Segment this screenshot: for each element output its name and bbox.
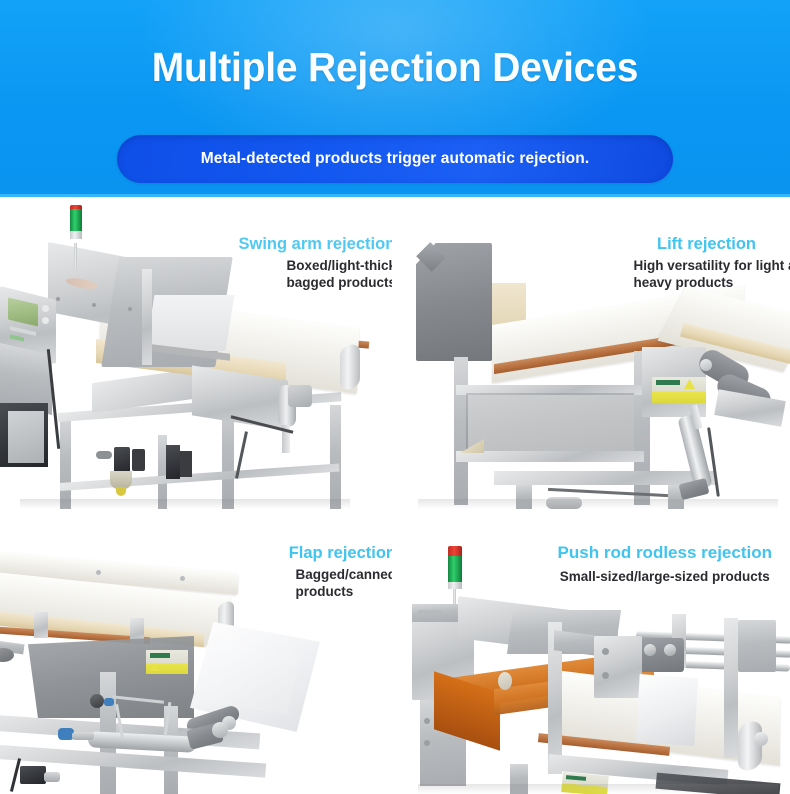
product-feature-poster: Multiple Rejection Devices Metal-detecte… xyxy=(0,0,790,794)
panel-subtitle: Boxed/light-thick bagged products xyxy=(286,258,392,291)
page-title: Multiple Rejection Devices xyxy=(20,44,771,91)
stack-light-red-green xyxy=(448,546,462,589)
label-push-rod: Push rod rodless rejection Small-sized/l… xyxy=(558,544,772,585)
panel-push-rod[interactable]: Push rod rodless rejection Small-sized/l… xyxy=(398,526,790,794)
panel-heading: Lift rejection xyxy=(633,235,756,253)
feature-grid: Swing arm rejection Boxed/light-thick ba… xyxy=(0,199,790,794)
panel-heading: Swing arm rejection xyxy=(238,235,392,253)
poster-header: Multiple Rejection Devices Metal-detecte… xyxy=(0,0,790,197)
label-flap: Flap rejection Bagged/canned products xyxy=(283,544,392,600)
panel-heading: Push rod rodless rejection xyxy=(558,544,772,563)
panel-subtitle: High versatility for light and heavy pro… xyxy=(633,258,790,291)
stack-light-green xyxy=(70,205,82,239)
panel-subtitle: Small-sized/large-sized products xyxy=(558,569,772,585)
panel-swing-arm[interactable]: Swing arm rejection Boxed/light-thick ba… xyxy=(0,199,392,509)
subtitle-pill-wrapper: Metal-detected products trigger automati… xyxy=(0,135,790,183)
panel-heading: Flap rejection xyxy=(283,544,392,562)
panel-subtitle: Bagged/canned products xyxy=(295,567,392,600)
subtitle-pill-text: Metal-detected products trigger automati… xyxy=(201,150,589,168)
label-lift: Lift rejection High versatility for ligh… xyxy=(633,235,756,291)
panel-flap[interactable]: Flap rejection Bagged/canned products xyxy=(0,526,392,794)
label-swing-arm: Swing arm rejection Boxed/light-thick ba… xyxy=(238,235,392,291)
subtitle-pill: Metal-detected products trigger automati… xyxy=(117,135,673,183)
panel-lift[interactable]: Lift rejection High versatility for ligh… xyxy=(398,199,790,509)
